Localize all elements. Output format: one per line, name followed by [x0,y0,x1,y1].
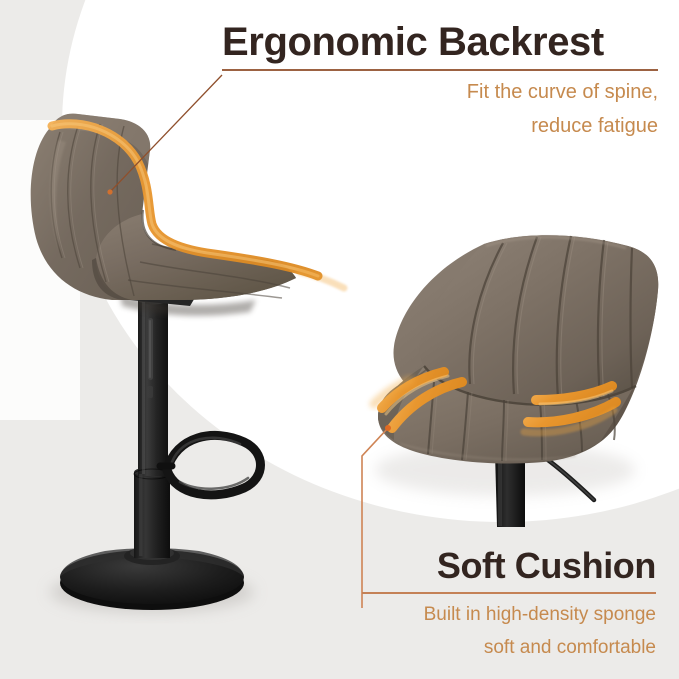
callout-soft-cushion: Soft Cushion Built in high-density spong… [362,548,656,660]
leader-anchor-top [107,189,112,194]
footrest-ring [167,435,261,494]
bar-stool-side-view [31,114,344,613]
callout-headline: Ergonomic Backrest [222,22,658,62]
callout-headline: Soft Cushion [362,548,656,584]
callout-subtitle-line-2: soft and comfortable [362,636,656,660]
gas-lift-column [134,296,170,559]
callout-rule [362,592,656,594]
backrest-and-seat-shell [31,114,296,300]
channel-tufted-seat-shell [378,235,658,463]
callout-rule [222,69,658,71]
leader-anchor-bottom [385,425,391,431]
callout-subtitle-line-2: reduce fatigue [222,114,658,140]
callout-subtitle-line-1: Built in high-density sponge [362,603,656,627]
bar-stool-seat-view [374,235,658,527]
callout-ergonomic-backrest: Ergonomic Backrest Fit the curve of spin… [222,22,658,140]
product-feature-image: Ergonomic Backrest Fit the curve of spin… [0,0,679,679]
callout-subtitle-line-1: Fit the curve of spine, [222,80,658,106]
